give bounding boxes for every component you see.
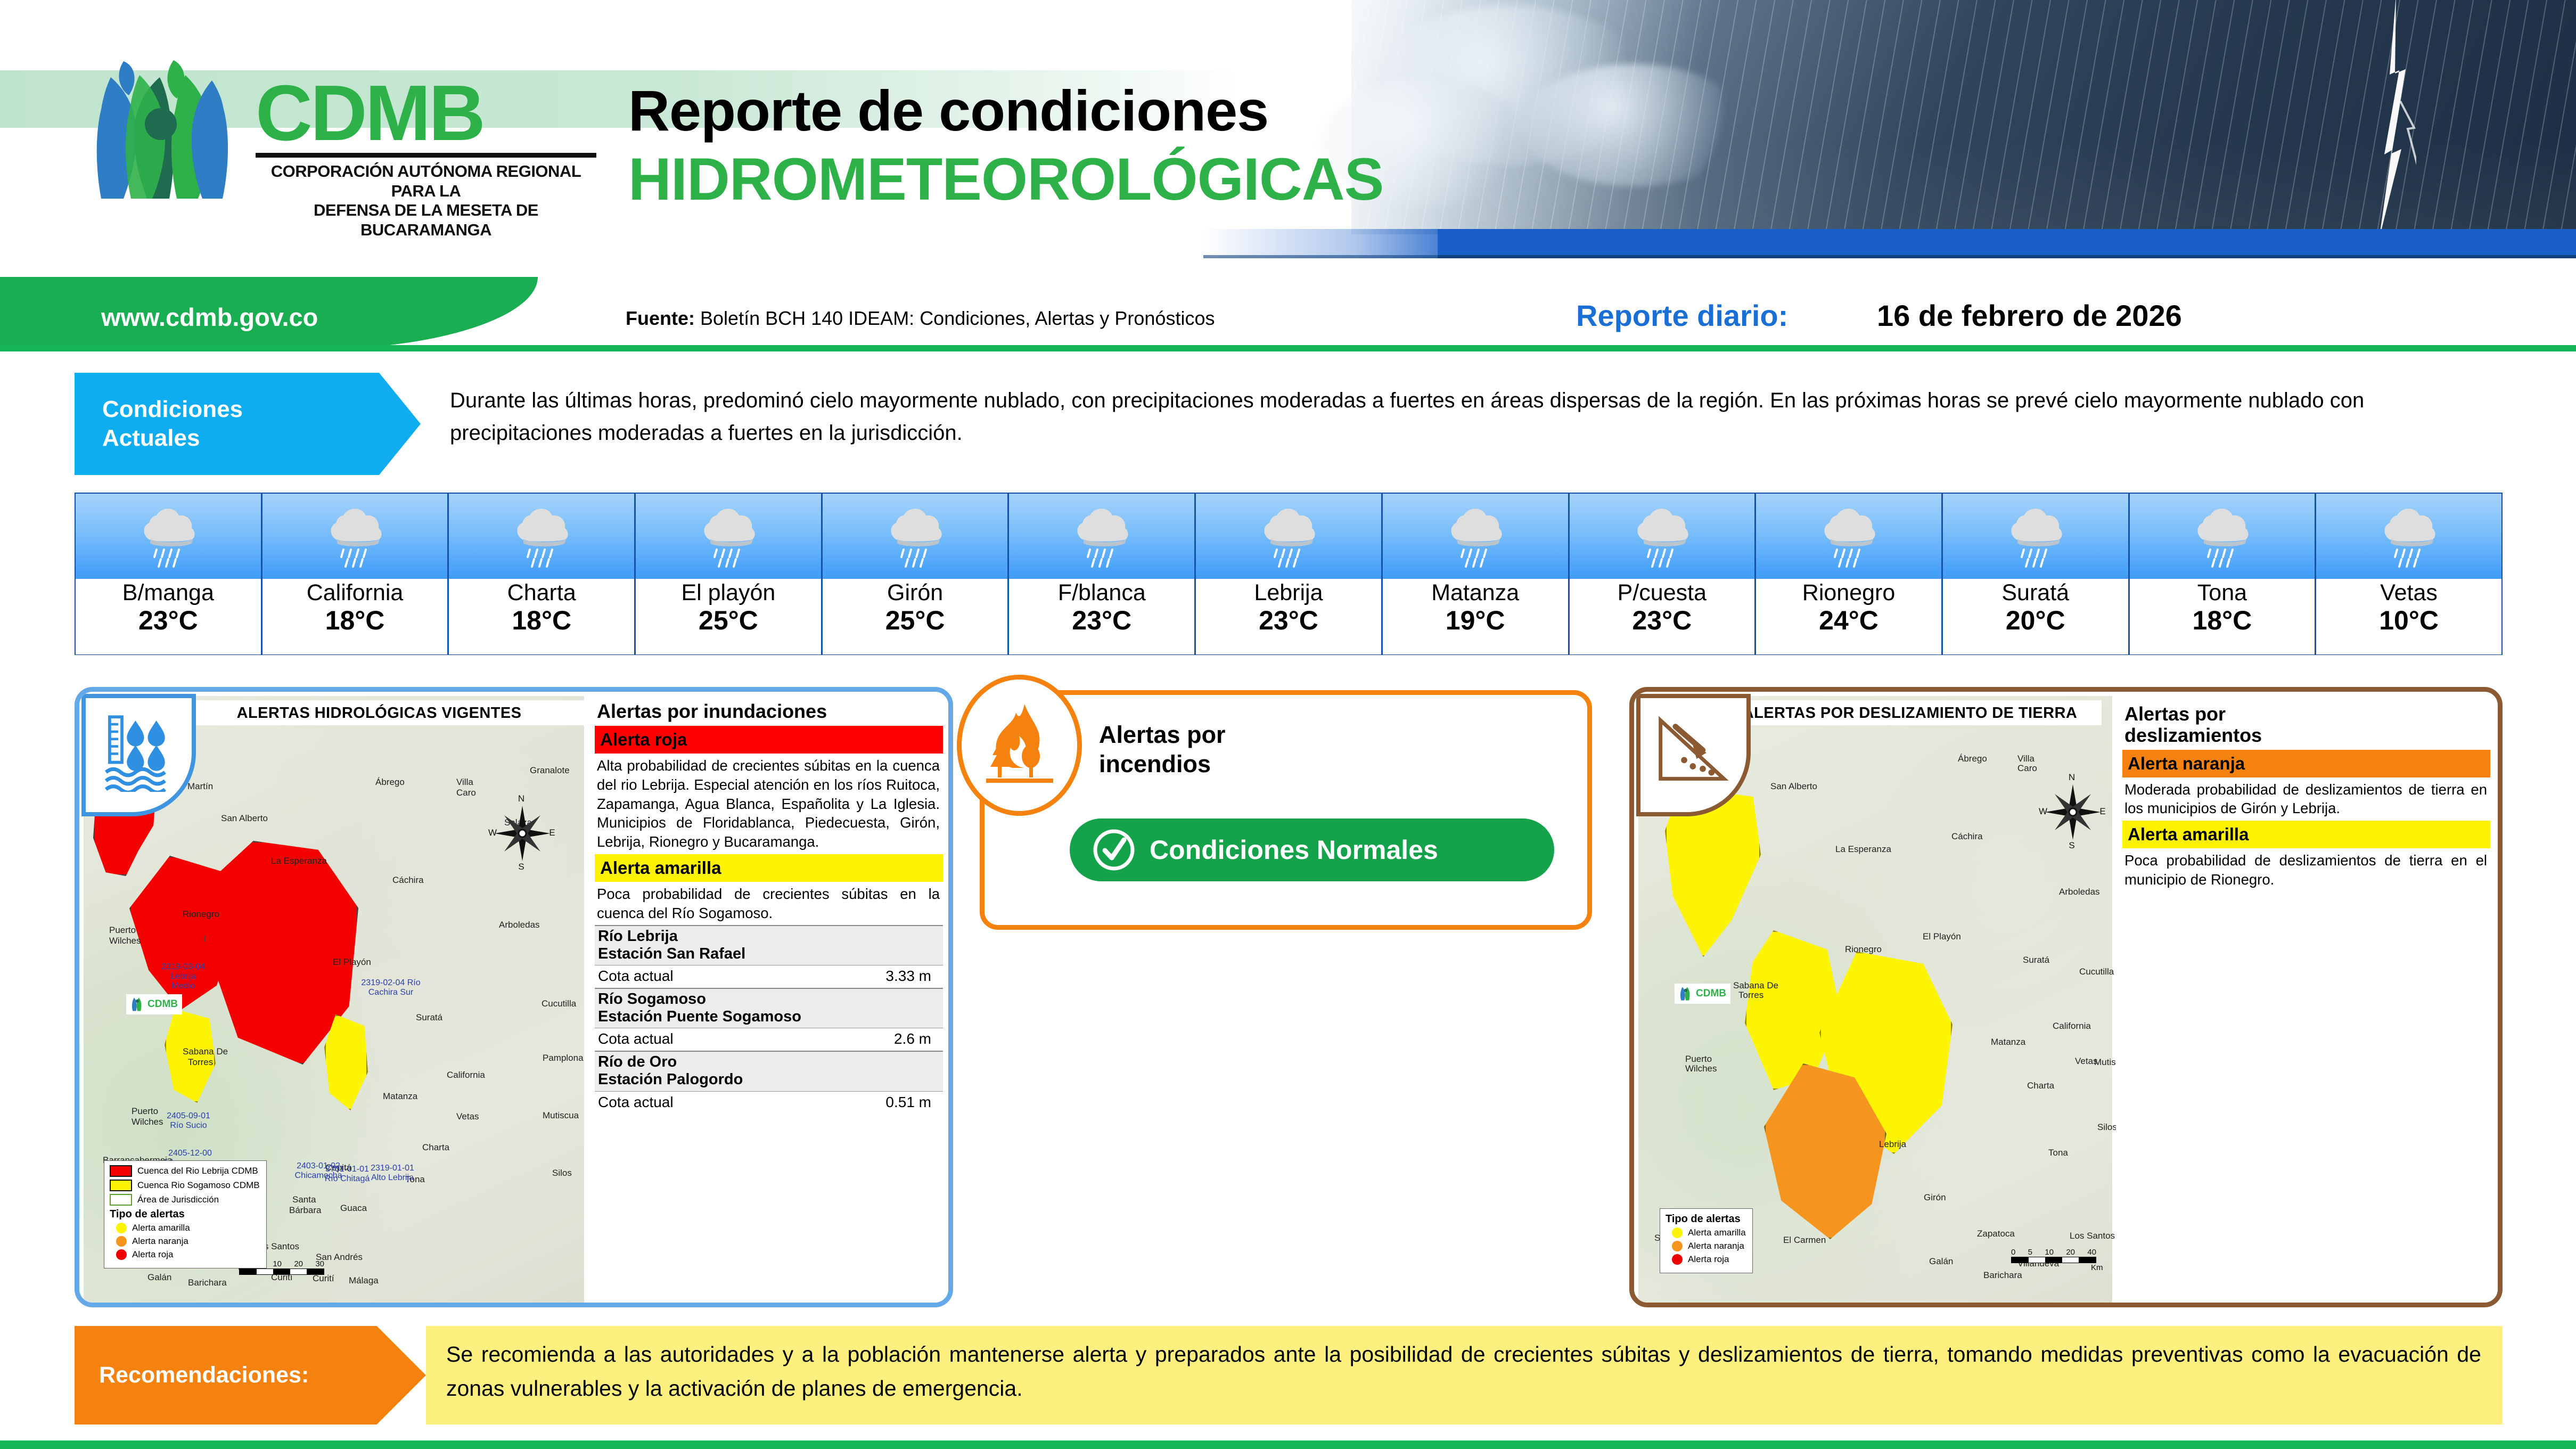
- map-place-label: Puerto: [109, 925, 136, 936]
- svg-text:S: S: [2069, 840, 2074, 850]
- map-place-label: Girón: [1924, 1192, 1946, 1203]
- recommendations-text: Se recomienda a las autoridades y a la p…: [426, 1326, 2503, 1425]
- page-subtitle: HIDROMETEOROLÓGICAS: [628, 145, 1383, 214]
- rain-cloud-icon: [1070, 505, 1134, 568]
- station-name: Estación Palogordo: [598, 1071, 939, 1088]
- city-name: Lebrija: [1196, 581, 1381, 605]
- logo-subtitle-line1: CORPORACIÓN AUTÓNOMA REGIONAL PARA LA: [256, 162, 596, 201]
- legend-swatch-jurisdiction: [110, 1194, 132, 1206]
- flood-alert-level-yellow: Alerta amarilla: [595, 854, 943, 882]
- city-nameplate: Suratá20°C: [1943, 579, 2128, 654]
- city-temperature: 23°C: [1196, 606, 1381, 635]
- city-nameplate: El playón25°C: [636, 579, 821, 654]
- landslide-map-title: ALERTAS POR DESLIZAMIENTO DE TIERRA: [1718, 700, 2102, 725]
- landslide-alerts-heading: Alertas por deslizamientos: [2124, 703, 2490, 747]
- city-nameplate: Vetas10°C: [2316, 579, 2501, 654]
- city-temperature: 23°C: [1570, 606, 1755, 635]
- city-weather-icon-area: [1196, 494, 1381, 579]
- metric-value: 0.51 m: [885, 1094, 931, 1111]
- hydrological-alert-map[interactable]: ALERTAS HIDROLÓGICAS VIGENTES San Martín…: [84, 696, 584, 1303]
- map-place-label: Torres: [188, 1057, 213, 1068]
- legend-label: Alerta naranja: [1688, 1241, 1744, 1251]
- map-place-label: Guaca: [340, 1203, 367, 1214]
- legend-label: Área de Jurisdicción: [137, 1194, 219, 1205]
- landslide-alert-text-yellow: Poca probabilidad de deslizamientos de t…: [2122, 848, 2490, 892]
- rain-cloud-icon: [1257, 505, 1320, 568]
- city-forecast-card[interactable]: Suratá20°C: [1943, 494, 2130, 654]
- river-name: Río Lebrija: [598, 928, 939, 945]
- city-name: Tona: [2130, 581, 2315, 605]
- green-divider: [0, 345, 2576, 351]
- map-place-label: Granalote: [530, 765, 570, 776]
- rain-cloud-icon: [2004, 505, 2068, 568]
- landslide-alerts-panel: ALERTAS POR DESLIZAMIENTO DE TIERRA San …: [1629, 687, 2503, 1307]
- flood-alert-level-red: Alerta roja: [595, 726, 943, 754]
- logo-acronym: CDMB: [256, 77, 596, 150]
- city-nameplate: Tona18°C: [2130, 579, 2315, 654]
- city-temperature: 23°C: [76, 606, 261, 635]
- city-name: F/blanca: [1009, 581, 1194, 605]
- svg-text:N: N: [2069, 772, 2075, 782]
- map-place-label: El Carmen: [1783, 1235, 1826, 1246]
- recommendations-tag: Recomendaciones:: [75, 1326, 426, 1425]
- map-place-label: Arboledas: [499, 920, 540, 930]
- legend-label: Alerta amarilla: [132, 1223, 190, 1233]
- svg-text:W: W: [488, 828, 497, 838]
- city-weather-icon-area: [823, 494, 1008, 579]
- city-name: Vetas: [2316, 581, 2501, 605]
- map-place-label: Tona: [2048, 1148, 2068, 1158]
- legend-label: Alerta roja: [1688, 1254, 1729, 1265]
- river-station-table: Río Lebrija Estación San Rafael Cota act…: [595, 925, 943, 1114]
- city-name: California: [262, 581, 448, 605]
- city-nameplate: P/cuesta23°C: [1570, 579, 1755, 654]
- city-forecast-card[interactable]: Vetas10°C: [2316, 494, 2501, 654]
- city-forecast-card[interactable]: California18°C: [262, 494, 449, 654]
- table-row: Cota actual 0.51 m: [595, 1091, 943, 1114]
- city-temperature: 25°C: [823, 606, 1008, 635]
- map-place-label: Torres: [1738, 990, 1763, 1001]
- city-weather-icon-area: [1756, 494, 1941, 579]
- compass-rose-icon: N S W E: [2039, 771, 2108, 850]
- map-place-label: Wilches: [1685, 1063, 1717, 1074]
- city-temperature: 25°C: [636, 606, 821, 635]
- map-basin-yellow-chitaga: [324, 1014, 368, 1110]
- source-line: Fuente: Boletín BCH 140 IDEAM: Condicion…: [626, 307, 1215, 330]
- svg-text:N: N: [518, 793, 524, 804]
- page-header: CDMB CORPORACIÓN AUTÓNOMA REGIONAL PARA …: [0, 0, 2576, 277]
- report-daily-label: Reporte diario:: [1576, 298, 1788, 333]
- city-nameplate: Charta18°C: [449, 579, 634, 654]
- cdmb-logo-mark: [80, 56, 256, 200]
- map-place-label: Matanza: [1991, 1037, 2025, 1047]
- river-station-header: Río Lebrija Estación San Rafael: [595, 925, 943, 965]
- map-place-label: Cucutilla: [542, 998, 576, 1009]
- current-conditions-tag: Condiciones Actuales: [75, 373, 421, 475]
- map-place-label: California: [2053, 1021, 2091, 1032]
- city-nameplate: Lebrija23°C: [1196, 579, 1381, 654]
- city-forecast-card[interactable]: Tona18°C: [2130, 494, 2317, 654]
- rain-cloud-icon: [2190, 505, 2254, 568]
- legend-label: Alerta naranja: [132, 1236, 188, 1247]
- website-date-bar: www.cdmb.gov.co Fuente: Boletín BCH 140 …: [0, 277, 2576, 349]
- header-blue-stripe: [1438, 229, 2576, 258]
- map-place-label: El Playón: [1923, 931, 1961, 942]
- city-name: Rionegro: [1756, 581, 1941, 605]
- map-place-label: Charta: [422, 1142, 449, 1153]
- map-place-label: Zapatoca: [1977, 1229, 2015, 1239]
- legend-dot-yellow: [116, 1223, 127, 1233]
- city-weather-icon-area: [636, 494, 821, 579]
- map-place-label: Lebrija: [1879, 1139, 1906, 1150]
- current-conditions-tag-line1: Condiciones: [102, 395, 421, 424]
- map-place-label: La Esperanza: [271, 856, 327, 866]
- legend-types-header: Tipo de alertas: [1666, 1213, 1746, 1225]
- city-nameplate: California18°C: [262, 579, 448, 654]
- flood-alerts-panel: ALERTAS HIDROLÓGICAS VIGENTES San Martín…: [75, 687, 953, 1307]
- city-weather-icon-area: [1009, 494, 1194, 579]
- metric-value: 2.6 m: [894, 1030, 931, 1047]
- source-text: Boletín BCH 140 IDEAM: Condiciones, Aler…: [700, 307, 1215, 329]
- legend-label: Alerta roja: [132, 1249, 173, 1260]
- map-place-label: Villa: [456, 777, 473, 788]
- flood-alert-text-red: Alta probabilidad de crecientes súbitas …: [595, 754, 943, 854]
- fire-badge: [957, 675, 1082, 816]
- map-place-label: Cáchira: [1951, 831, 1983, 842]
- svg-text:E: E: [2099, 806, 2105, 816]
- recommendations-section: Recomendaciones: Se recomienda a las aut…: [75, 1326, 2503, 1425]
- city-name: Matanza: [1383, 581, 1568, 605]
- legend-types-header: Tipo de alertas: [110, 1208, 260, 1221]
- map-place-label: Villa: [2017, 754, 2034, 764]
- fire-alerts-heading-line2: incendios: [1099, 750, 1226, 779]
- compass-rose-icon: N S W E: [488, 792, 557, 872]
- landslide-alert-level-orange: Alerta naranja: [2122, 750, 2490, 777]
- fire-alerts-panel: Alertas por incendios Condiciones Normal…: [980, 690, 1592, 930]
- river-name: Río de Oro: [598, 1053, 939, 1071]
- svg-text:W: W: [2039, 806, 2047, 816]
- map-place-label: Matanza: [383, 1091, 417, 1102]
- landslide-alerts-heading-line1: Alertas por: [2124, 703, 2490, 725]
- map-cdmb-watermark: CDMB: [126, 994, 182, 1014]
- map-place-label: Ábrego: [1958, 754, 1987, 764]
- rain-cloud-icon: [323, 505, 387, 568]
- rain-cloud-icon: [883, 505, 947, 568]
- city-temperature: 18°C: [449, 606, 634, 635]
- city-weather-icon-area: [76, 494, 261, 579]
- table-row: Cota actual 3.33 m: [595, 965, 943, 988]
- city-name: Suratá: [1943, 581, 2128, 605]
- landslide-alert-text-orange: Moderada probabilidad de deslizamientos …: [2122, 777, 2490, 821]
- city-forecast-card[interactable]: B/manga23°C: [76, 494, 262, 654]
- map-place-label: Caro: [456, 788, 476, 798]
- city-temperature: 19°C: [1383, 606, 1568, 635]
- cdmb-mini-logo-icon: [1679, 986, 1693, 1002]
- map-basin-code: 2319-03-04LebrijaMedio: [154, 962, 212, 991]
- city-temperature: 10°C: [2316, 606, 2501, 635]
- legend-label: Cuenca Rio Sogamoso CDMB: [137, 1180, 260, 1191]
- city-forecast-strip: B/manga23°C California18°C Charta18°C El…: [75, 493, 2503, 655]
- map-place-label: Barichara: [188, 1278, 227, 1288]
- landslide-alert-map[interactable]: ALERTAS POR DESLIZAMIENTO DE TIERRA San …: [1638, 696, 2112, 1303]
- city-name: Girón: [823, 581, 1008, 605]
- map-place-label: Vetas: [456, 1111, 479, 1122]
- city-temperature: 24°C: [1756, 606, 1941, 635]
- map-place-label: Wilches: [109, 936, 141, 946]
- flood-alert-text-yellow: Poca probabilidad de crecientes súbitas …: [595, 882, 943, 926]
- report-date: 16 de febrero de 2026: [1877, 298, 2182, 333]
- city-weather-icon-area: [1570, 494, 1755, 579]
- city-forecast-card[interactable]: Charta18°C: [449, 494, 636, 654]
- map-place-label: Sabana De: [183, 1046, 228, 1057]
- city-nameplate: Girón25°C: [823, 579, 1008, 654]
- city-nameplate: Matanza19°C: [1383, 579, 1568, 654]
- map-place-label: Charta: [2027, 1080, 2054, 1091]
- metric-value: 3.33 m: [885, 968, 931, 985]
- city-nameplate: F/blanca23°C: [1009, 579, 1194, 654]
- table-row: Cota actual 2.6 m: [595, 1028, 943, 1051]
- map-cdmb-watermark: CDMB: [1675, 984, 1730, 1004]
- landslide-alerts-heading-line2: deslizamientos: [2124, 725, 2490, 746]
- map-place-label: Suratá: [416, 1012, 442, 1023]
- map-place-label: Silos: [552, 1168, 572, 1178]
- city-name: El playón: [636, 581, 821, 605]
- map-place-label: Santa: [292, 1194, 316, 1205]
- fire-status-label: Condiciones Normales: [1150, 834, 1438, 865]
- current-conditions-tag-line2: Actuales: [102, 424, 421, 453]
- city-forecast-card[interactable]: P/cuesta23°C: [1570, 494, 1757, 654]
- city-temperature: 23°C: [1009, 606, 1194, 635]
- city-name: P/cuesta: [1570, 581, 1755, 605]
- city-weather-icon-area: [1383, 494, 1568, 579]
- city-name: B/manga: [76, 581, 261, 605]
- map-place-label: San Alberto: [221, 813, 268, 824]
- cdmb-logo-text: CDMB CORPORACIÓN AUTÓNOMA REGIONAL PARA …: [256, 77, 596, 240]
- map-slide-yellow-mid: [1745, 930, 1841, 1090]
- map-place-label: San Alberto: [1770, 781, 1817, 792]
- map-place-label: Puerto: [1685, 1054, 1712, 1065]
- current-conditions-text: Durante las últimas horas, predominó cie…: [426, 375, 2503, 473]
- map-place-label: El Playón: [333, 957, 371, 968]
- city-temperature: 20°C: [1943, 606, 2128, 635]
- map-place-label: Cáchira: [392, 875, 424, 886]
- legend-swatch-yellow: [110, 1180, 132, 1191]
- map-place-label: Mutiscua: [543, 1110, 579, 1121]
- map-place-label: Cucutilla: [2079, 967, 2114, 977]
- landslide-icon: [1654, 714, 1729, 789]
- legend-dot-red: [116, 1249, 127, 1260]
- map-basin-code: 2319-02-04 RíoCachira Sur: [356, 978, 425, 997]
- legend-dot-orange: [116, 1236, 127, 1247]
- logo-subtitle-line2: DEFENSA DE LA MESETA DE BUCARAMANGA: [256, 201, 596, 240]
- cdmb-logo: CDMB CORPORACIÓN AUTÓNOMA REGIONAL PARA …: [80, 56, 612, 210]
- logo-subtitle: CORPORACIÓN AUTÓNOMA REGIONAL PARA LA DE…: [256, 162, 596, 240]
- map-place-label: La Esperanza: [1835, 844, 1891, 855]
- legend-dot-orange: [1672, 1241, 1683, 1251]
- legend-swatch-red: [110, 1165, 132, 1177]
- map-cdmb-label: CDMB: [1696, 988, 1726, 1000]
- map-place-label: Pamplona: [543, 1053, 584, 1063]
- map-place-label: Curití: [313, 1273, 334, 1284]
- city-temperature: 18°C: [262, 606, 448, 635]
- city-forecast-card[interactable]: Lebrija23°C: [1196, 494, 1383, 654]
- rain-cloud-icon: [1630, 505, 1694, 568]
- city-forecast-card[interactable]: Girón25°C: [823, 494, 1010, 654]
- map-place-label: Rionegro: [1845, 944, 1882, 955]
- fire-status-badge: Condiciones Normales: [1070, 818, 1554, 881]
- landslide-alert-text-column: Alertas por deslizamientos Alerta naranj…: [2116, 696, 2497, 1306]
- bottom-green-rule: [0, 1440, 2576, 1449]
- svg-text:E: E: [549, 828, 555, 838]
- river-name: Río Sogamoso: [598, 990, 939, 1008]
- map-place-label: Bárbara: [289, 1205, 321, 1216]
- flood-map-legend: Cuenca del Rio Lebrija CDMB Cuenca Rio S…: [104, 1160, 267, 1268]
- map-place-label: Rionegro: [183, 909, 219, 920]
- rain-cloud-icon: [1443, 505, 1507, 568]
- station-name: Estación San Rafael: [598, 945, 939, 963]
- metric-label: Cota actual: [598, 1030, 674, 1047]
- report-page: CDMB CORPORACIÓN AUTÓNOMA REGIONAL PARA …: [0, 0, 2576, 1449]
- map-cdmb-label: CDMB: [147, 998, 178, 1010]
- city-forecast-card[interactable]: El playón25°C: [636, 494, 823, 654]
- map-place-label: California: [447, 1070, 485, 1080]
- city-weather-icon-area: [449, 494, 634, 579]
- river-station-header: Río Sogamoso Estación Puente Sogamoso: [595, 988, 943, 1028]
- city-weather-icon-area: [262, 494, 448, 579]
- legend-label: Cuenca del Rio Lebrija CDMB: [137, 1166, 258, 1176]
- legend-label: Alerta amarilla: [1688, 1227, 1746, 1238]
- fire-alerts-heading: Alertas por incendios: [1099, 721, 1226, 779]
- city-weather-icon-area: [2130, 494, 2315, 579]
- city-nameplate: Rionegro24°C: [1756, 579, 1941, 654]
- map-place-label: Galán: [147, 1272, 171, 1283]
- map-place-label: Silos: [2097, 1122, 2117, 1133]
- station-name: Estación Puente Sogamoso: [598, 1008, 939, 1026]
- forest-fire-icon: [980, 699, 1060, 792]
- legend-dot-yellow: [1672, 1227, 1683, 1238]
- current-conditions-section: Condiciones Actuales Durante las últimas…: [75, 373, 2503, 475]
- map-basin-code: 3701-01-01Río Chitagá: [318, 1165, 376, 1184]
- rain-cloud-icon: [136, 505, 200, 568]
- water-level-gauge-icon: [101, 712, 175, 792]
- website-url[interactable]: www.cdmb.gov.co: [101, 302, 318, 332]
- city-forecast-card[interactable]: F/blanca23°C: [1009, 494, 1196, 654]
- map-place-label: Ábrego: [375, 777, 405, 788]
- flood-alert-text-column: Alertas por inundaciones Alerta roja Alt…: [590, 696, 948, 1306]
- city-temperature: 18°C: [2130, 606, 2315, 635]
- city-weather-icon-area: [2316, 494, 2501, 579]
- rain-cloud-icon: [696, 505, 760, 568]
- map-place-label: Wilches: [132, 1117, 163, 1127]
- city-weather-icon-area: [1943, 494, 2128, 579]
- cdmb-mini-logo-icon: [130, 996, 144, 1012]
- city-forecast-card[interactable]: Matanza19°C: [1383, 494, 1570, 654]
- rain-cloud-icon: [2377, 505, 2441, 568]
- svg-text:S: S: [518, 862, 524, 872]
- city-nameplate: B/manga23°C: [76, 579, 261, 654]
- source-label: Fuente:: [626, 307, 695, 329]
- lightning-icon: [2368, 0, 2416, 240]
- map-place-label: Los Santos: [2070, 1231, 2115, 1241]
- landslide-alert-level-yellow: Alerta amarilla: [2122, 821, 2490, 848]
- map-scale-bar: 05102040 Km: [2011, 1248, 2103, 1272]
- landslide-map-legend: Tipo de alertas Alerta amarilla Alerta n…: [1660, 1208, 1753, 1273]
- city-name: Charta: [449, 581, 634, 605]
- metric-label: Cota actual: [598, 968, 674, 985]
- page-title: Reporte de condiciones: [628, 77, 1268, 144]
- city-forecast-card[interactable]: Rionegro24°C: [1756, 494, 1943, 654]
- map-basin-code: 2405-09-01Río Sucio: [159, 1111, 218, 1131]
- map-place-label: Málaga: [349, 1275, 379, 1286]
- map-place-label: Caro: [2017, 763, 2037, 774]
- legend-dot-red: [1672, 1254, 1683, 1265]
- map-place-label: Galán: [1929, 1256, 1953, 1267]
- rain-cloud-icon: [510, 505, 573, 568]
- check-circle-icon: [1091, 827, 1137, 873]
- metric-label: Cota actual: [598, 1094, 674, 1111]
- flood-map-badge: [81, 694, 196, 816]
- river-station-header: Río de Oro Estación Palogordo: [595, 1051, 943, 1091]
- map-place-label: Puerto: [132, 1106, 158, 1117]
- flood-map-title: ALERTAS HIDROLÓGICAS VIGENTES: [171, 700, 587, 725]
- map-place-label: Suratá: [2023, 955, 2049, 965]
- rain-cloud-icon: [1817, 505, 1881, 568]
- flood-alerts-heading: Alertas por inundaciones: [597, 700, 943, 723]
- fire-alerts-heading-line1: Alertas por: [1099, 721, 1226, 750]
- map-place-label: Arboledas: [2059, 887, 2100, 897]
- map-place-label: Sabana De: [1733, 980, 1778, 991]
